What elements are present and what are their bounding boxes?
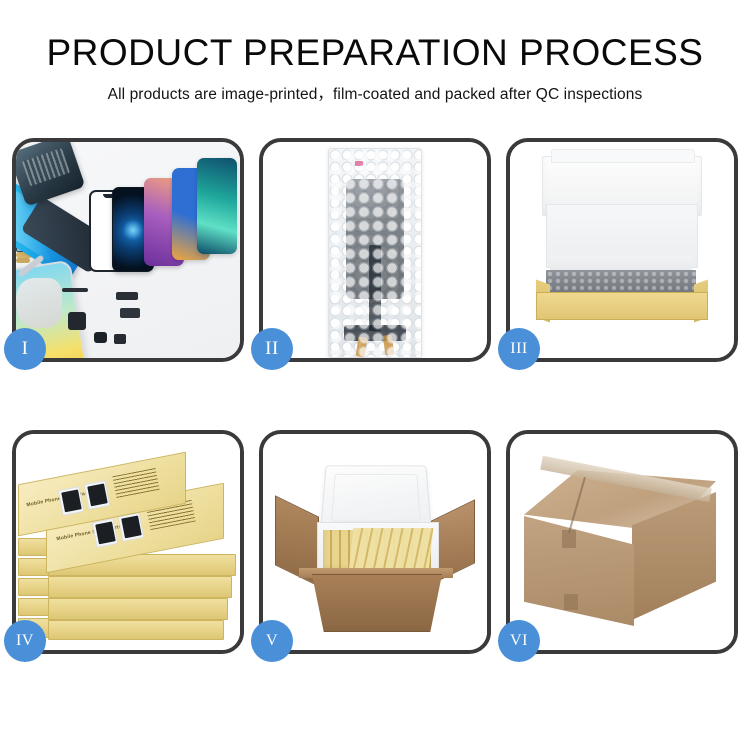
- step-panel-1: I: [12, 138, 244, 362]
- step-badge-5: V: [251, 620, 293, 662]
- packed-yellow-boxes-row-2: [349, 528, 434, 572]
- box-art-screen-front-2: [118, 512, 145, 542]
- box-art-screen-top-1: [58, 486, 85, 516]
- step-image-carton-packing: [263, 434, 487, 650]
- carton-tab-upper: [562, 530, 576, 548]
- step-panel-2: II: [259, 138, 491, 362]
- step-image-bubble-bag: [263, 142, 487, 358]
- part-flex-cable-1: [68, 312, 86, 330]
- box-art-screen-front-1: [92, 518, 119, 548]
- step-image-stacked-boxes: Mobile Phone Spare Parts Mobile Phone Sp…: [16, 434, 240, 650]
- pink-qc-sticker: [355, 161, 363, 166]
- opened-phone-back-housing: [16, 142, 85, 207]
- step-badge-3: III: [498, 328, 540, 370]
- part-speaker: [114, 334, 126, 344]
- page-title: PRODUCT PREPARATION PROCESS: [0, 30, 750, 76]
- product-preparation-process-page: PRODUCT PREPARATION PROCESS All products…: [0, 0, 750, 750]
- page-subtitle: All products are image-printed，film-coat…: [0, 84, 750, 106]
- carton-front-yellow: [536, 292, 708, 320]
- carton-tab-lower: [564, 594, 578, 610]
- teal-wave-phone: [197, 158, 237, 254]
- step-badge-2: II: [251, 328, 293, 370]
- step-image-phone-parts: [16, 142, 240, 358]
- bubble-wrap-bag: [328, 148, 422, 358]
- step-badge-4: IV: [4, 620, 46, 662]
- box-stack: Mobile Phone Spare Parts Mobile Phone Sp…: [16, 434, 240, 650]
- process-steps-grid: I II: [12, 138, 738, 678]
- part-earpiece-strip: [62, 288, 88, 292]
- part-flex-cable-2: [116, 292, 138, 300]
- carton-front-face: [524, 516, 634, 626]
- step-panel-3: III: [506, 138, 738, 362]
- box-art-screen-top-2: [84, 480, 111, 510]
- stacked-box-b1: [48, 620, 224, 640]
- lcd-flex-cable: [369, 245, 381, 331]
- step-badge-6: VI: [498, 620, 540, 662]
- stacked-box-b3: [48, 576, 232, 598]
- part-side-button-2: [16, 258, 30, 263]
- step-badge-1: I: [4, 328, 46, 370]
- step-image-sealed-carton: [510, 434, 734, 650]
- gold-contact-left: [356, 336, 368, 357]
- step-image-foam-carton: [510, 142, 734, 358]
- lcd-connector-strip: [344, 325, 406, 341]
- stacked-box-b2: [48, 598, 228, 620]
- carton-front-panel: [303, 574, 451, 632]
- part-camera-module: [94, 332, 107, 343]
- step-panel-4: Mobile Phone Spare Parts Mobile Phone Sp…: [12, 430, 244, 654]
- step-panel-5: V: [259, 430, 491, 654]
- part-flex-cable-3: [120, 308, 140, 318]
- technician-hand: [16, 278, 62, 328]
- page-header: PRODUCT PREPARATION PROCESS All products…: [0, 30, 750, 106]
- step-panel-6: VI: [506, 430, 738, 654]
